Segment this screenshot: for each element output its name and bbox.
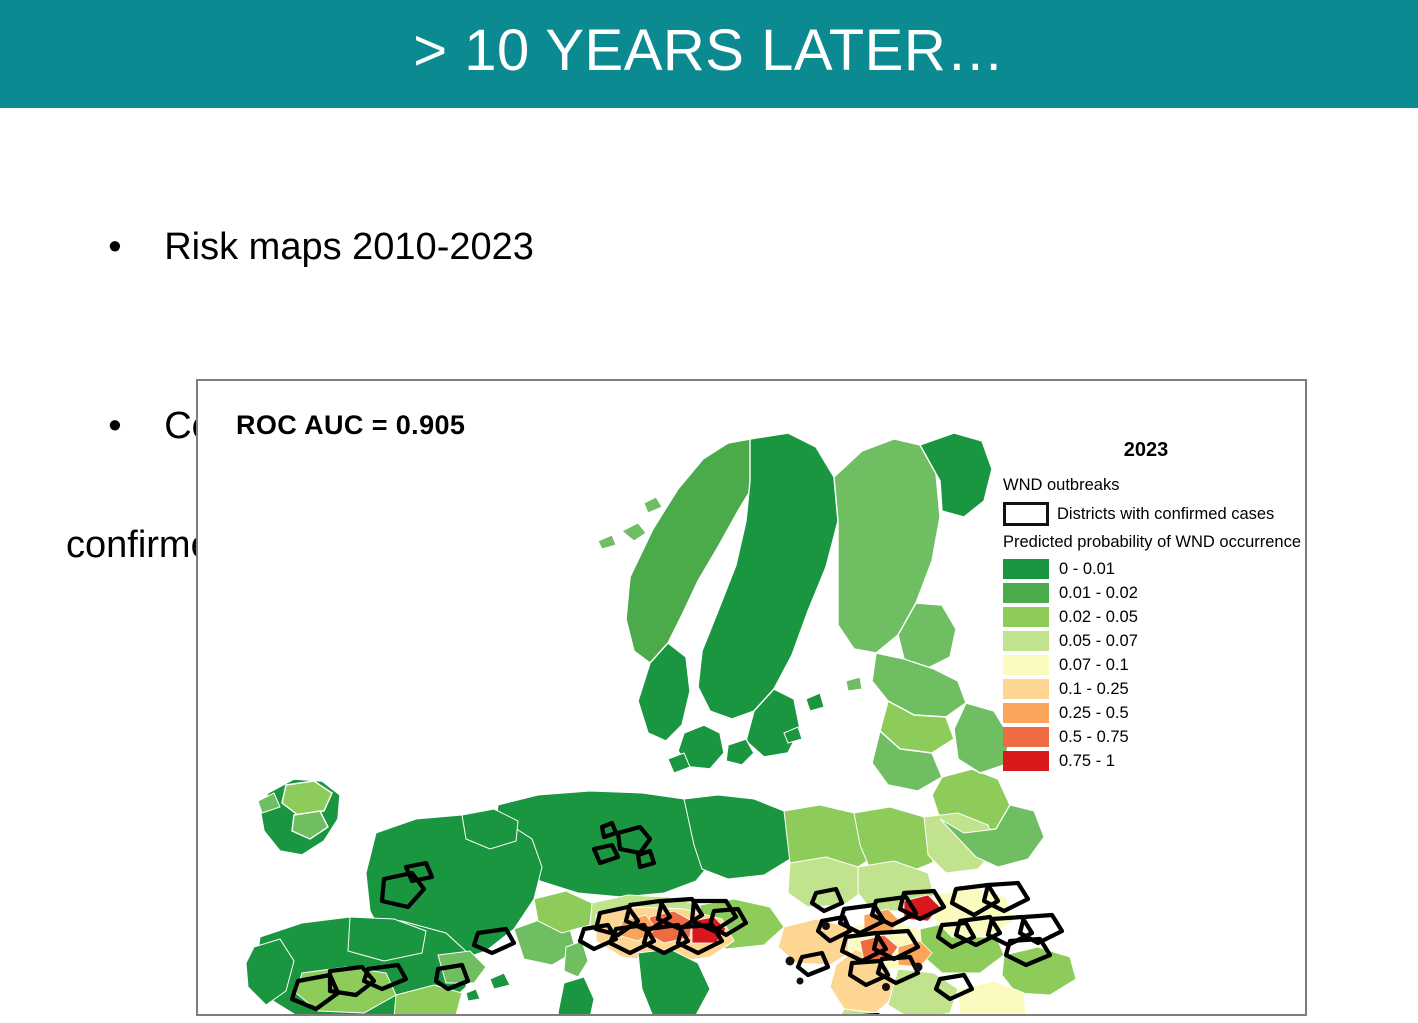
legend-range-label: 0.01 - 0.02 <box>1059 584 1138 603</box>
bullet-marker: • <box>108 218 164 278</box>
legend-class-row: 0.1 - 0.25 <box>1003 679 1303 699</box>
legend-probability-heading: Predicted probability of WND occurrence <box>1003 533 1303 552</box>
legend-class-row: 0.5 - 0.75 <box>1003 727 1303 747</box>
legend-color-swatch <box>1003 607 1049 627</box>
legend-class-row: 0 - 0.01 <box>1003 559 1303 579</box>
legend-color-swatch <box>1003 583 1049 603</box>
legend-color-swatch <box>1003 703 1049 723</box>
risk-map-figure: ROC AUC = 0.905 <box>196 379 1307 1016</box>
legend-color-swatch <box>1003 559 1049 579</box>
legend-class-row: 0.07 - 0.1 <box>1003 655 1303 675</box>
legend-year-title: 2023 <box>989 439 1303 462</box>
legend-range-label: 0.05 - 0.07 <box>1059 632 1138 651</box>
legend-color-swatch <box>1003 631 1049 651</box>
bullet-marker: • <box>108 397 164 457</box>
legend-class-row: 0.75 - 1 <box>1003 751 1303 771</box>
legend-color-swatch <box>1003 655 1049 675</box>
legend-color-swatch <box>1003 679 1049 699</box>
page-title: > 10 YEARS LATER… <box>413 22 1004 80</box>
slide-title-banner: > 10 YEARS LATER… <box>0 0 1418 108</box>
legend-range-label: 0.25 - 0.5 <box>1059 704 1129 723</box>
legend-outbreak-label: Districts with confirmed cases <box>1057 505 1274 524</box>
list-item: •Risk maps 2010-2023 <box>66 158 1376 337</box>
legend-class-row: 0.02 - 0.05 <box>1003 607 1303 627</box>
legend-range-label: 0.02 - 0.05 <box>1059 608 1138 627</box>
legend-outbreaks-heading: WND outbreaks <box>1003 476 1303 495</box>
legend-class-list: 0 - 0.010.01 - 0.020.02 - 0.050.05 - 0.0… <box>1003 559 1303 771</box>
legend-color-swatch <box>1003 727 1049 747</box>
legend-outbreak-item: Districts with confirmed cases <box>1003 502 1303 526</box>
legend-range-label: 0 - 0.01 <box>1059 560 1115 579</box>
bullet-text: Risk maps 2010-2023 <box>164 226 534 268</box>
legend-color-swatch <box>1003 751 1049 771</box>
legend-class-row: 0.25 - 0.5 <box>1003 703 1303 723</box>
legend-range-label: 0.1 - 0.25 <box>1059 680 1129 699</box>
legend-class-row: 0.05 - 0.07 <box>1003 631 1303 651</box>
legend-range-label: 0.75 - 1 <box>1059 752 1115 771</box>
legend-range-label: 0.5 - 0.75 <box>1059 728 1129 747</box>
map-legend: 2023 WND outbreaks Districts with confir… <box>1003 439 1303 771</box>
district-outline-swatch <box>1003 502 1049 526</box>
legend-class-row: 0.01 - 0.02 <box>1003 583 1303 603</box>
legend-range-label: 0.07 - 0.1 <box>1059 656 1129 675</box>
